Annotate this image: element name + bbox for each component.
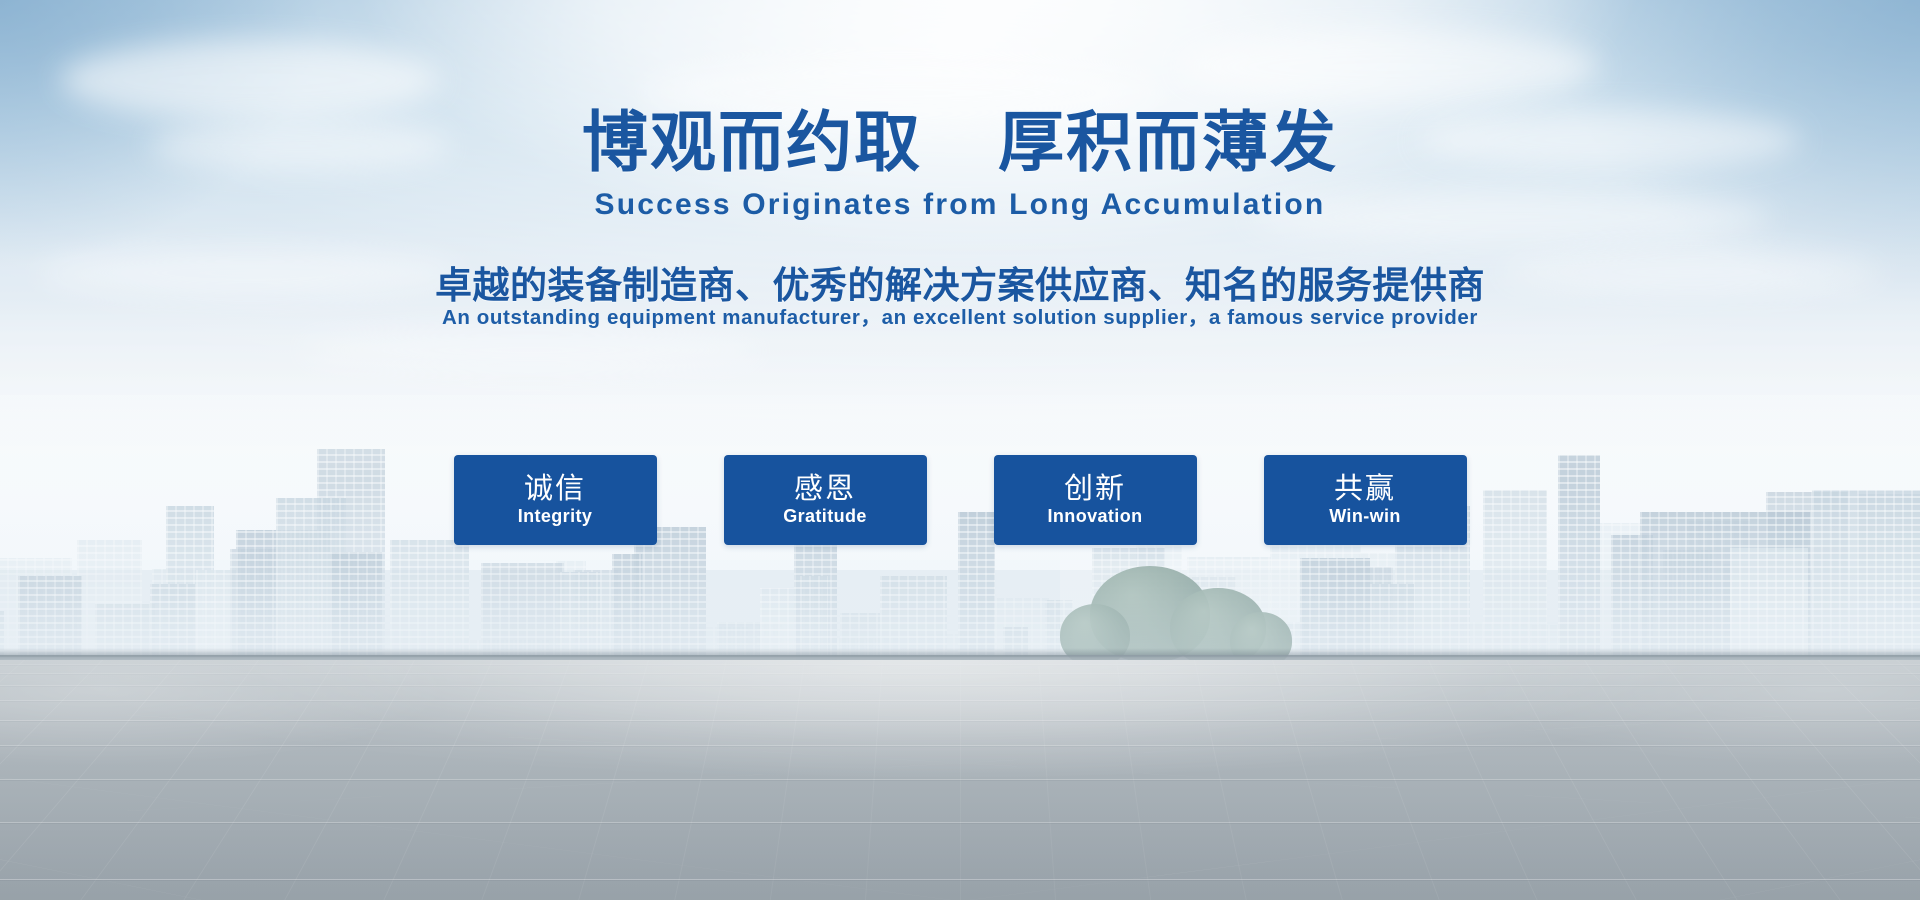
value-card-integrity[interactable]: 诚信Integrity <box>454 455 657 545</box>
headline-chinese: 博观而约取 厚积而薄发 <box>0 110 1920 176</box>
hero-banner: 博观而约取 厚积而薄发 Success Originates from Long… <box>0 0 1920 900</box>
banner-content: 博观而约取 厚积而薄发 Success Originates from Long… <box>0 0 1920 900</box>
core-values-list: 诚信Integrity感恩Gratitude创新Innovation共赢Win-… <box>0 455 1920 545</box>
value-card-label-cn: 创新 <box>1064 473 1126 504</box>
value-card-label-cn: 共赢 <box>1334 473 1396 504</box>
headline-chinese-part1: 博观而约取 <box>582 104 922 181</box>
headline-chinese-part2: 厚积而薄发 <box>998 104 1338 181</box>
value-card-label-cn: 诚信 <box>524 473 586 504</box>
value-card-win-win[interactable]: 共赢Win-win <box>1264 455 1467 545</box>
value-card-label-en: Win-win <box>1329 507 1401 527</box>
value-card-label-en: Innovation <box>1048 507 1143 527</box>
headline-english: Success Originates from Long Accumulatio… <box>0 188 1920 222</box>
value-card-label-en: Integrity <box>518 507 593 527</box>
value-card-label-cn: 感恩 <box>794 473 856 504</box>
value-card-label-en: Gratitude <box>783 507 867 527</box>
subheadline-english: An outstanding equipment manufacturer，an… <box>0 300 1920 330</box>
value-card-innovation[interactable]: 创新Innovation <box>994 455 1197 545</box>
value-card-gratitude[interactable]: 感恩Gratitude <box>724 455 927 545</box>
